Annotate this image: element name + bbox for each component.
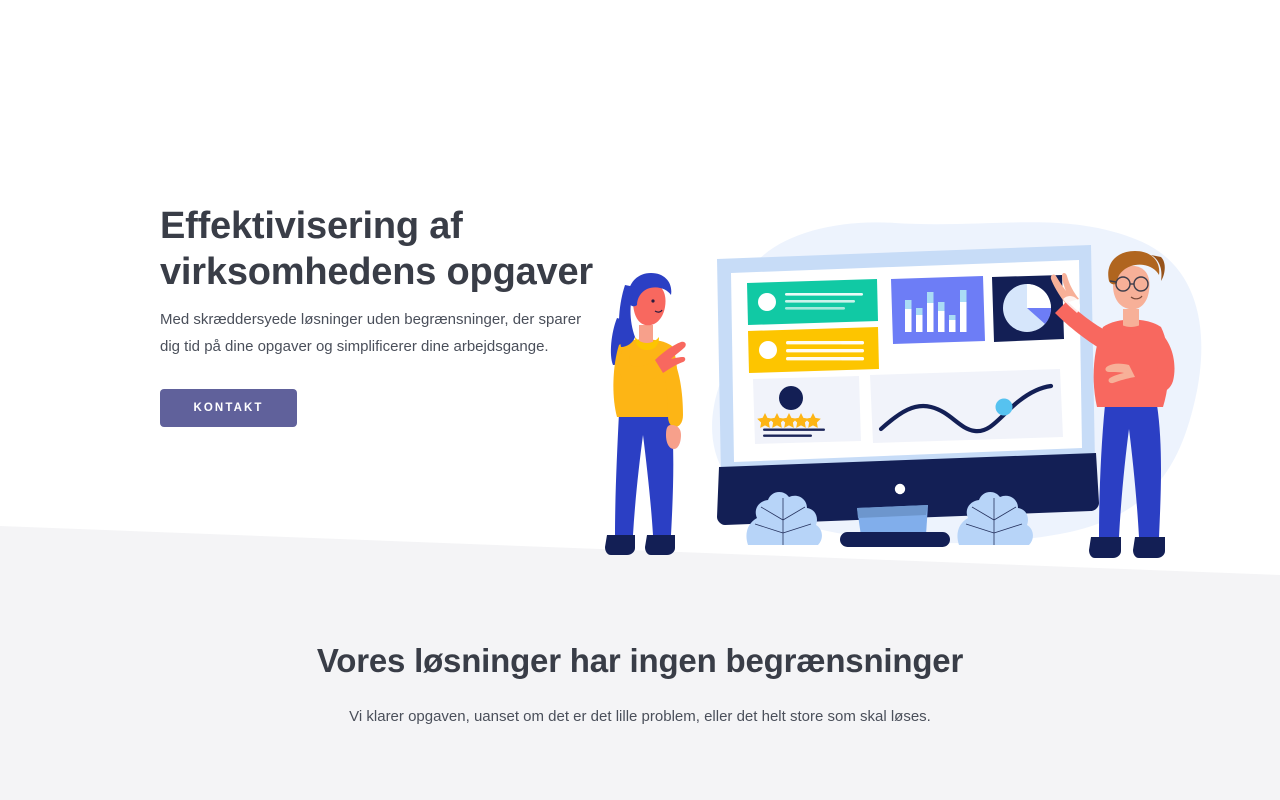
section-subtitle: Vi klarer opgaven, uanset om det er det … xyxy=(0,704,1280,729)
solutions-section: Vores løsninger har ingen begrænsninger … xyxy=(0,640,1280,729)
rating-avatar xyxy=(779,386,803,410)
pie-chart-slices xyxy=(1003,284,1051,332)
landing-page: Effektivisering af virksomhedens opgaver… xyxy=(0,0,1280,800)
page-title: Effektivisering af virksomhedens opgaver xyxy=(160,203,600,295)
hero-section: Effektivisering af virksomhedens opgaver… xyxy=(0,0,1280,580)
rating-card xyxy=(753,376,861,444)
notification-card-yellow xyxy=(748,327,879,373)
kontakt-button[interactable]: KONTAKT xyxy=(160,389,297,427)
line-chart-marker xyxy=(996,399,1013,416)
line-chart-card xyxy=(870,369,1063,443)
bar-chart-card xyxy=(891,276,985,344)
monitor-power-dot xyxy=(895,484,905,494)
notification-card-teal xyxy=(747,279,878,325)
hero-subtitle: Med skræddersyede løsninger uden begræns… xyxy=(160,307,585,360)
pie-chart-card xyxy=(992,275,1064,342)
monitor-graphic xyxy=(717,245,1099,547)
section-title: Vores løsninger har ingen begrænsninger xyxy=(0,640,1280,682)
woman-pointing-figure xyxy=(605,273,686,555)
hero-copy: Effektivisering af virksomhedens opgaver… xyxy=(160,203,600,427)
business-dashboard-illustration xyxy=(595,215,1210,580)
